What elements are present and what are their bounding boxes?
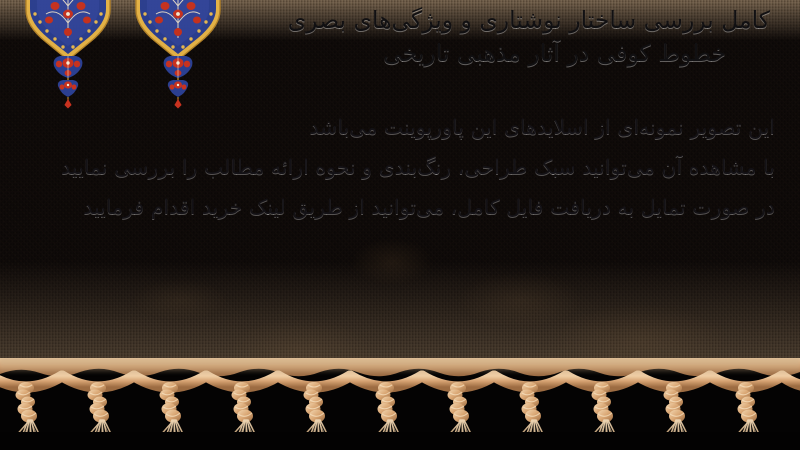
slide-body: این تصویر نمونه‌ای از اسلایدهای این پاور…: [60, 108, 775, 228]
slide-body-line-1: این تصویر نمونه‌ای از اسلایدهای این پاور…: [60, 108, 775, 148]
slide-body-line-3: در صورت تمایل به دریافت فایل کامل، می‌تو…: [60, 188, 775, 228]
slide-title-line-1: کامل بررسی ساختار نوشتاری و ویژگی‌های بص…: [288, 6, 770, 34]
slide-title: کامل بررسی ساختار نوشتاری و ویژگی‌های بص…: [200, 4, 770, 71]
fringe-edge-glow: [0, 358, 800, 374]
pendant-left: [54, 56, 83, 109]
medallion-left: [26, 0, 110, 60]
slide-canvas: کامل بررسی ساختار نوشتاری و ویژگی‌های بص…: [0, 0, 800, 450]
tassel-fringe: [0, 358, 800, 450]
slide-body-line-2: با مشاهده آن می‌توانید سبک طراحی، رنگ‌بن…: [60, 148, 775, 188]
pendant-right: [164, 56, 193, 109]
slide-title-line-2: خطوط کوفی در آثار مذهبی تاریخی: [200, 37, 770, 70]
